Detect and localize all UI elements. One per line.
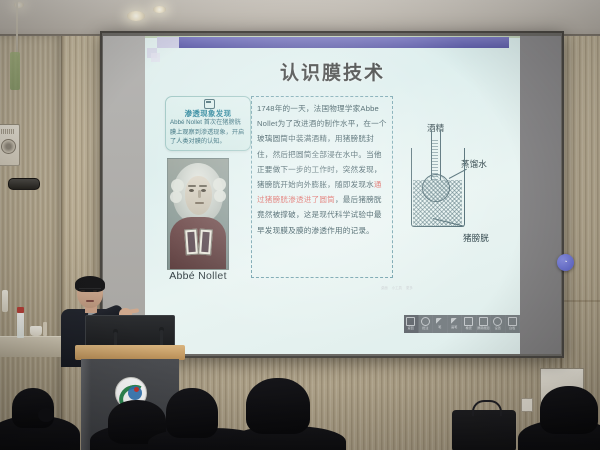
portrait-caption: Abbé Nollet: [159, 270, 237, 282]
side-tool-desktop[interactable]: 桌面: [381, 286, 388, 290]
toolbar-button-pointer[interactable]: 批注: [419, 315, 434, 333]
clerical-collar-right: [198, 229, 213, 256]
podium-body: [81, 359, 179, 450]
toolbar-label: 设置: [495, 327, 501, 330]
portrait-abbe-nollet: [167, 158, 229, 270]
screen-right-panel[interactable]: [519, 36, 561, 354]
annotation-toolbar[interactable]: 返回 批注 笔 画笔 橡皮: [404, 315, 520, 333]
wig-curl: [171, 179, 184, 192]
table-item-candle: [2, 290, 8, 312]
presenter-eye: [93, 290, 97, 292]
pointer-icon: [421, 317, 430, 326]
window-titlebar[interactable]: [157, 37, 509, 48]
tea-cup: [30, 326, 42, 336]
assistant-icon[interactable]: ◔: [557, 254, 574, 271]
page-title: 认识膜技术: [145, 58, 520, 85]
paragraph-part1: 1748年的一天，法国物理学家Abbe Nollet为了改进酒的制作水平，在一个…: [257, 104, 387, 189]
wall-seam: [61, 36, 63, 450]
toolbar-button-settings[interactable]: 设置: [491, 315, 506, 333]
presenter-finger: [129, 308, 140, 314]
microphone-stem: [160, 330, 163, 346]
wall-left-panel: [0, 36, 62, 450]
eye: [189, 189, 194, 192]
lecture-room: 认识膜技术 渗透现象发现 Abbé Nollet 首次在猪膀胱膜上观察到渗透现象…: [0, 0, 600, 450]
bladder-membrane-bulb: [422, 174, 450, 202]
presenter-eye: [81, 290, 85, 292]
diagram-label-pig-bladder: 猪膀胱: [463, 232, 489, 244]
clerical-collar-left: [184, 229, 199, 256]
podium: [75, 345, 185, 450]
toolbar-button-pen[interactable]: 笔: [433, 315, 448, 333]
back-icon: [406, 317, 415, 326]
screenshot-icon: [479, 317, 488, 326]
screenshot-root: 认识膜技术 渗透现象发现 Abbé Nollet 首次在猪膀胱膜上观察到渗透现象…: [0, 0, 600, 450]
toolbar-label: 笔: [438, 326, 441, 329]
wall-notice-panel: [540, 368, 584, 404]
window-tab[interactable]: [157, 37, 179, 48]
podium-top-surface: [75, 345, 185, 360]
presenter-mouth: [86, 300, 94, 302]
toolbar-label: 返回: [408, 327, 414, 330]
speaker-vent: [1, 129, 14, 134]
nose: [198, 190, 201, 198]
projected-slide[interactable]: 认识膜技术 渗透现象发现 Abbé Nollet 首次在猪膀胱膜上观察到渗透现象…: [145, 36, 520, 354]
paragraph-dashed-box: 1748年的一天，法国物理学家Abbe Nollet为了改进酒的制作水平，在一个…: [251, 96, 393, 278]
side-tool-widgets[interactable]: 小工具: [392, 286, 402, 290]
toolbar-label: 橡皮: [466, 327, 472, 330]
wall-strip: [43, 322, 47, 336]
ceiling-light: [153, 6, 166, 13]
toolbar-button-screenshot[interactable]: 屏幕截图: [477, 315, 492, 333]
hanging-banner: [10, 52, 20, 90]
eyebrow: [199, 185, 207, 187]
eyebrow: [188, 185, 196, 187]
toolbar-button-eraser[interactable]: 橡皮: [462, 315, 477, 333]
wig-curl: [170, 191, 182, 203]
wall-outlet: [521, 398, 533, 412]
institution-emblem: [115, 377, 147, 409]
toolbar-label: 白板: [509, 327, 515, 330]
emblem-red-dot: [134, 387, 139, 392]
wall-fixture: [8, 178, 40, 190]
assistant-glyph: ◔: [563, 259, 567, 266]
wall-mounted-speaker: [0, 124, 20, 166]
pen-icon: [436, 318, 443, 325]
toolbar-button-back[interactable]: 返回: [404, 315, 419, 333]
osmosis-experiment-diagram: 酒精 蒸馏水 猪膀胱: [403, 122, 511, 254]
ceiling-light: [127, 11, 145, 21]
info-card-body: Abbé Nollet 首次在猪膀胱膜上观察到渗透现象，开启了人类对膜的认知。: [170, 118, 246, 147]
toolbar-label: 屏幕截图: [477, 327, 489, 330]
info-card: 渗透现象发现 Abbé Nollet 首次在猪膀胱膜上观察到渗透现象，开启了人类…: [165, 96, 251, 151]
bottle-cap: [17, 307, 24, 313]
paragraph-text: 1748年的一天，法国物理学家Abbe Nollet为了改进酒的制作水平，在一个…: [257, 101, 388, 238]
hanging-cable: [16, 0, 18, 56]
whiteboard-icon: [508, 317, 517, 326]
mouth: [195, 202, 204, 204]
eraser-icon: [464, 317, 473, 326]
water-bottle: [17, 312, 24, 338]
speaker-cone: [1, 139, 16, 154]
toolbar-button-whiteboard[interactable]: 白板: [506, 315, 521, 333]
side-tool-more[interactable]: 更多: [406, 286, 413, 290]
wig-curl: [214, 190, 226, 202]
toolbar-button-brush[interactable]: 画笔: [448, 315, 463, 333]
toolbar-label: 批注: [422, 327, 428, 330]
brush-icon: [451, 318, 458, 325]
eye: [201, 189, 206, 192]
toolbar-label: 画笔: [451, 326, 457, 329]
side-panel-tools[interactable]: 桌面 小工具 更多: [381, 280, 443, 296]
